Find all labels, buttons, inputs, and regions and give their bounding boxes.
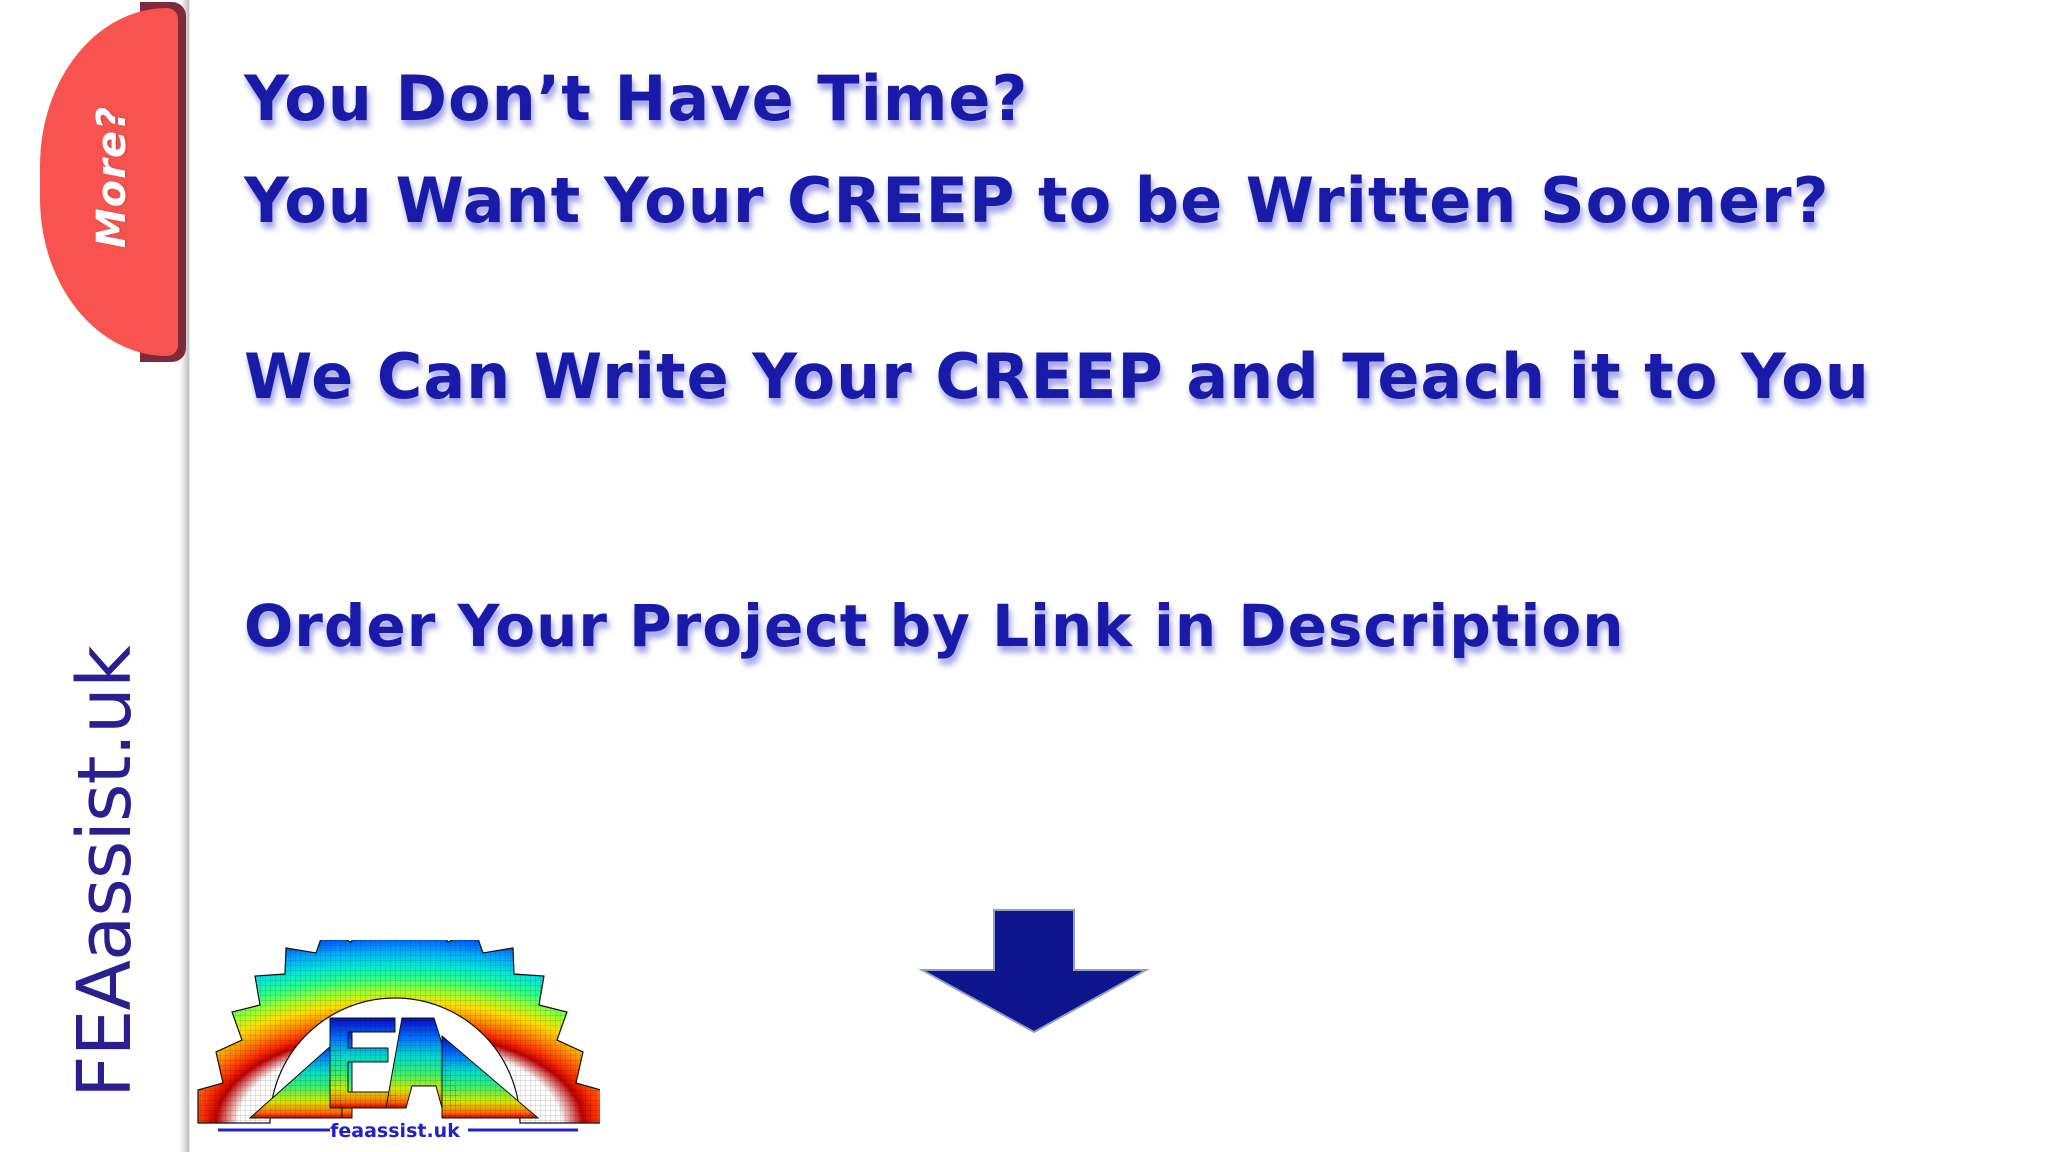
headline-line-2: You Want Your CREEP to be Written Sooner… xyxy=(244,164,1830,237)
headline-line-1: You Don’t Have Time? xyxy=(244,62,1028,135)
logo-caption: feaassist.uk xyxy=(190,1120,600,1142)
headline-line-4: Order Your Project by Link in Descriptio… xyxy=(244,592,1625,660)
vertical-brand-text: FEAassist.uk xyxy=(62,578,148,1098)
fea-gear-mesh-logo: feaassist.uk xyxy=(190,940,600,1152)
arrow-down-icon xyxy=(918,908,1150,1034)
headline-line-3: We Can Write Your CREEP and Teach it to … xyxy=(244,340,1870,413)
more-tab[interactable]: More? xyxy=(40,2,186,362)
more-tab-label: More? xyxy=(89,57,135,297)
